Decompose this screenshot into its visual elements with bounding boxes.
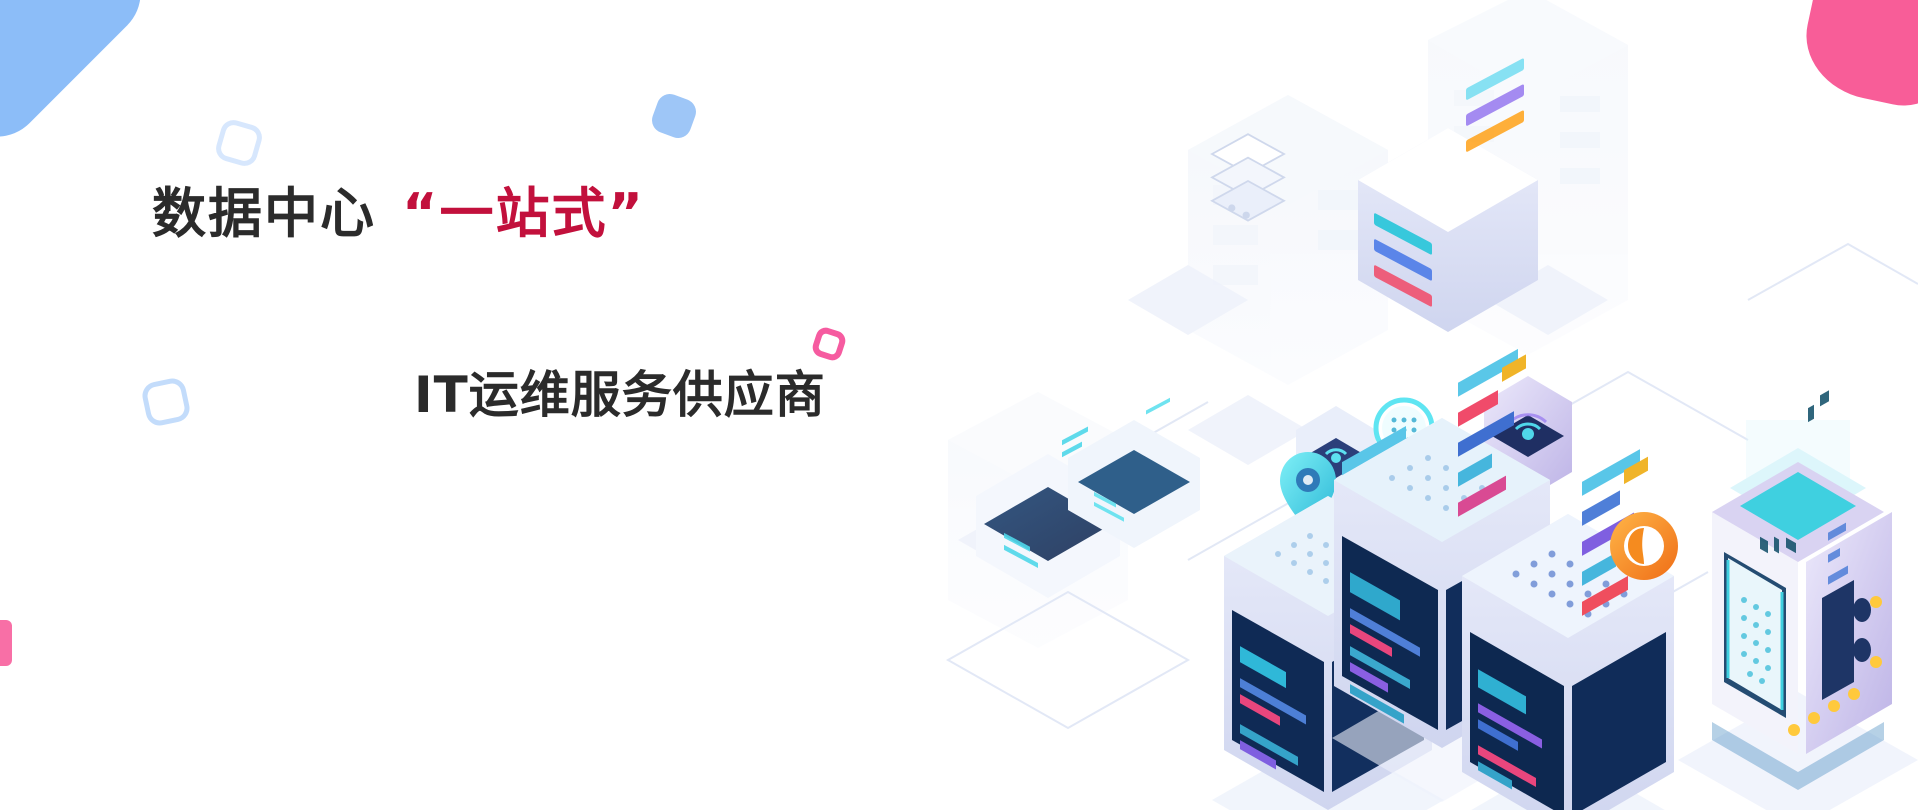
status-leds bbox=[1788, 596, 1882, 736]
server-rack-right bbox=[1454, 449, 1682, 810]
magnifier-icon bbox=[1376, 400, 1435, 471]
quote-open-mark: “ bbox=[402, 182, 440, 245]
ghost-building-back bbox=[1188, 95, 1388, 385]
headline-line-2: IT运维服务供应商 bbox=[414, 355, 912, 427]
ghost-building-lower bbox=[948, 392, 1128, 648]
server-rack-left bbox=[1212, 426, 1444, 810]
headline-emphasis-text: 一站式 bbox=[440, 182, 608, 245]
pedestal-group bbox=[958, 265, 1608, 580]
large-server-cabinet bbox=[1678, 390, 1918, 810]
quote-close-mark: ” bbox=[608, 182, 646, 245]
network-cube bbox=[1212, 134, 1284, 220]
headline-line-1: 数据中心“一站式” bbox=[152, 186, 912, 243]
hero-banner: 数据中心“一站式” IT运维服务供应商 bbox=[0, 0, 1918, 810]
headline-block: 数据中心“一站式” IT运维服务供应商 bbox=[152, 186, 912, 427]
location-pin bbox=[1280, 452, 1336, 530]
headline-prefix-text: 数据中心 bbox=[152, 182, 376, 245]
ghost-building-tall bbox=[1428, 0, 1628, 355]
floor-grid-lines bbox=[948, 244, 1918, 728]
blue-dot-decoration bbox=[648, 90, 699, 141]
laptop-screen bbox=[1068, 398, 1200, 548]
tablet-device bbox=[1484, 376, 1572, 498]
isometric-data-center-illustration bbox=[888, 0, 1918, 810]
server-cabinet-top-right bbox=[1358, 58, 1538, 332]
server-rack-center bbox=[1332, 349, 1552, 802]
orange-ring-token bbox=[1610, 512, 1678, 580]
pink-blob-decoration bbox=[1795, 0, 1918, 117]
blue-rounded-square-decoration bbox=[0, 0, 160, 156]
pink-edge-marker-decoration bbox=[0, 620, 12, 666]
wifi-card bbox=[1296, 406, 1376, 510]
blue-ring-decoration-upper bbox=[213, 117, 265, 169]
monitor-screen bbox=[976, 426, 1120, 598]
